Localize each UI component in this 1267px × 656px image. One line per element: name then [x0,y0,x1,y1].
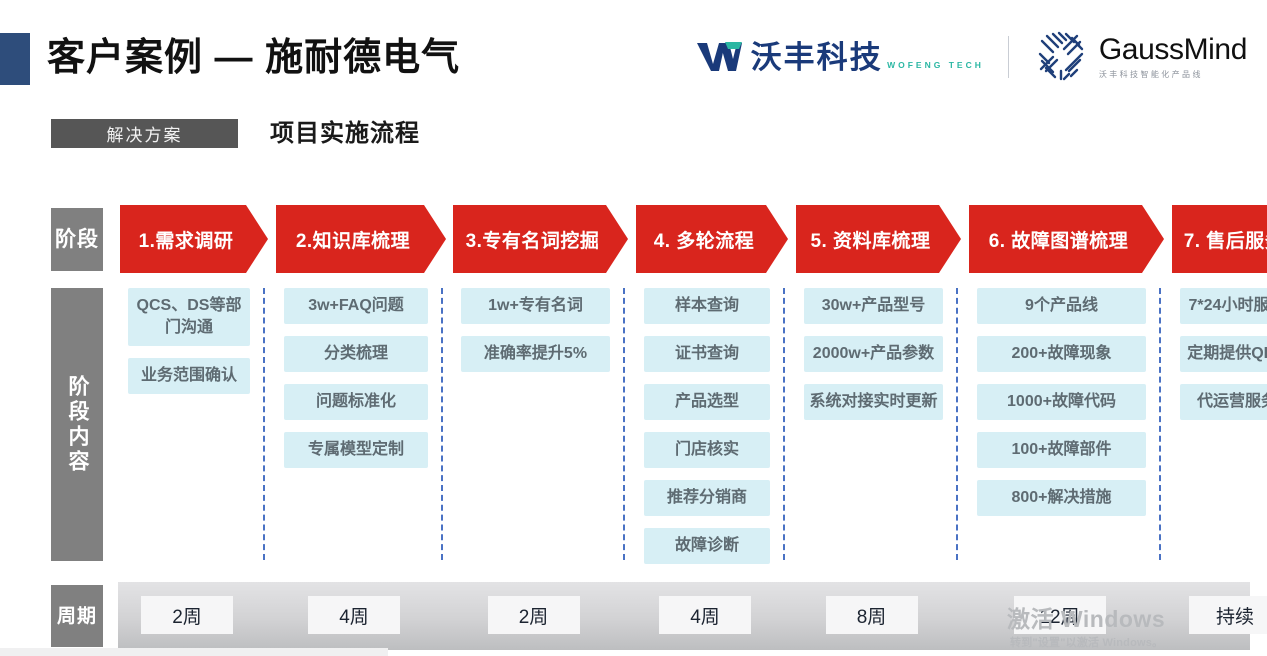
period-box-1[interactable]: 2周 [141,596,233,634]
title-accent-block [0,33,30,85]
content-item[interactable]: 定期提供QBR [1180,336,1267,372]
content-item[interactable]: 7*24小时服务 [1180,288,1267,324]
period-box-6[interactable]: 12周 [1014,596,1106,634]
stage-arrow-7[interactable]: 7. 售后服务 [1172,205,1267,273]
content-item[interactable]: 100+故障部件 [977,432,1146,468]
section-tag: 解决方案 [51,119,238,148]
bottom-strip [0,648,388,656]
content-item[interactable]: 2000w+产品参数 [804,336,943,372]
content-item[interactable]: 门店核实 [644,432,770,468]
content-item[interactable]: 业务范围确认 [128,358,250,394]
content-column-6: 9个产品线200+故障现象1000+故障代码100+故障部件800+解决措施 [977,288,1146,561]
gaussmind-mark-icon [1033,27,1089,88]
section-title: 项目实施流程 [270,117,420,150]
stage-content-row: QCS、DS等部门沟通业务范围确认3w+FAQ问题分类梳理问题标准化专属模型定制… [120,288,1250,561]
content-item[interactable]: 9个产品线 [977,288,1146,324]
content-item[interactable]: 30w+产品型号 [804,288,943,324]
content-column-5: 30w+产品型号2000w+产品参数系统对接实时更新 [804,288,943,561]
content-item[interactable]: 样本查询 [644,288,770,324]
gaussmind-subtitle: 沃丰科技智能化产品线 [1099,69,1247,80]
wofeng-logo-text: 沃丰科技 WOFENG TECH [751,42,984,73]
content-item[interactable]: QCS、DS等部门沟通 [128,288,250,346]
column-divider [783,288,785,560]
stage-arrow-4[interactable]: 4. 多轮流程 [636,205,788,273]
content-item[interactable]: 800+解决措施 [977,480,1146,516]
wofeng-w-icon [695,37,743,77]
logo-group: 沃丰科技 WOFENG TECH [695,26,1247,88]
page-title: 客户案例 — 施耐德电气 [47,31,460,85]
content-item[interactable]: 证书查询 [644,336,770,372]
stage-arrow-5[interactable]: 5. 资料库梳理 [796,205,961,273]
row-label-content-text: 阶段内容 [64,375,90,475]
content-item[interactable]: 分类梳理 [284,336,428,372]
period-box-7[interactable]: 持续 [1189,596,1267,634]
row-label-content: 阶段内容 [51,288,103,561]
period-box-3[interactable]: 2周 [488,596,580,634]
content-item[interactable]: 200+故障现象 [977,336,1146,372]
gaussmind-name: GaussMind [1099,35,1247,65]
content-column-7: 7*24小时服务定期提供QBR代运营服务 [1180,288,1267,561]
gaussmind-logo: GaussMind 沃丰科技智能化产品线 [1033,27,1247,88]
stage-arrow-label: 1.需求调研 [139,226,250,253]
stage-arrow-label: 6. 故障图谱梳理 [989,226,1145,253]
content-item[interactable]: 故障诊断 [644,528,770,564]
period-box-4[interactable]: 4周 [659,596,751,634]
wofeng-logo-en: WOFENG TECH [887,60,984,70]
period-box-2[interactable]: 4周 [308,596,400,634]
column-divider [623,288,625,560]
content-column-2: 3w+FAQ问题分类梳理问题标准化专属模型定制 [284,288,428,561]
stage-arrow-1[interactable]: 1.需求调研 [120,205,268,273]
content-item[interactable]: 问题标准化 [284,384,428,420]
row-label-period: 周期 [51,585,103,647]
stage-arrow-label: 7. 售后服务 [1184,226,1267,253]
column-divider [956,288,958,560]
stage-arrow-label: 5. 资料库梳理 [810,226,946,253]
wofeng-logo: 沃丰科技 WOFENG TECH [695,37,984,77]
content-item[interactable]: 3w+FAQ问题 [284,288,428,324]
stage-arrow-label: 3.专有名词挖掘 [466,226,616,253]
column-divider [441,288,443,560]
row-label-stage: 阶段 [51,208,103,271]
stage-arrow-6[interactable]: 6. 故障图谱梳理 [969,205,1164,273]
stage-arrow-3[interactable]: 3.专有名词挖掘 [453,205,628,273]
logo-divider [1008,36,1009,78]
content-item[interactable]: 1w+专有名词 [461,288,610,324]
stage-arrow-2[interactable]: 2.知识库梳理 [276,205,446,273]
content-item[interactable]: 系统对接实时更新 [804,384,943,420]
stage-arrow-row: 1.需求调研2.知识库梳理3.专有名词挖掘4. 多轮流程5. 资料库梳理6. 故… [120,205,1250,273]
content-item[interactable]: 1000+故障代码 [977,384,1146,420]
content-item[interactable]: 专属模型定制 [284,432,428,468]
column-divider [1159,288,1161,560]
column-divider [263,288,265,560]
content-column-3: 1w+专有名词准确率提升5% [461,288,610,561]
content-item[interactable]: 产品选型 [644,384,770,420]
content-column-4: 样本查询证书查询产品选型门店核实推荐分销商故障诊断 [644,288,770,561]
stage-arrow-label: 4. 多轮流程 [654,226,771,253]
content-item[interactable]: 代运营服务 [1180,384,1267,420]
slide-root: 客户案例 — 施耐德电气 沃丰科技 WOFENG TECH [0,0,1267,656]
stage-arrow-label: 2.知识库梳理 [296,226,426,253]
content-column-1: QCS、DS等部门沟通业务范围确认 [128,288,250,561]
gaussmind-text: GaussMind 沃丰科技智能化产品线 [1099,35,1247,80]
period-box-5[interactable]: 8周 [826,596,918,634]
wofeng-logo-cn: 沃丰科技 [751,40,883,75]
period-row: 2周4周2周4周8周12周持续 [118,582,1250,650]
content-item[interactable]: 准确率提升5% [461,336,610,372]
content-item[interactable]: 推荐分销商 [644,480,770,516]
